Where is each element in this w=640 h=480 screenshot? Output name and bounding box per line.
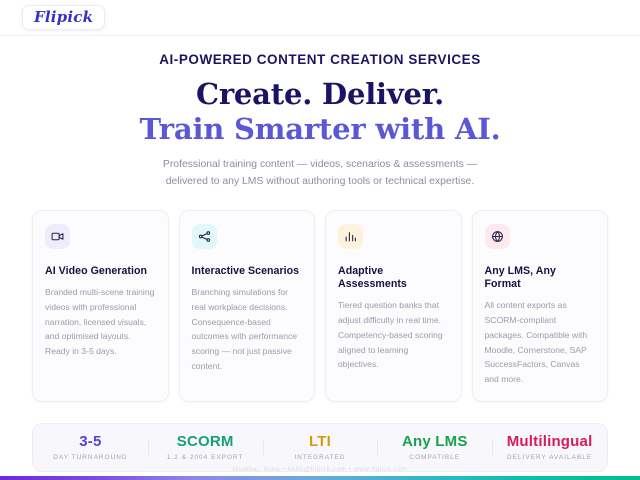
stat-label: DAY TURNAROUND bbox=[37, 454, 144, 462]
stat-scorm: SCORM 1.2 & 2004 EXPORT bbox=[148, 433, 263, 462]
stat-turnaround: 3-5 DAY TURNAROUND bbox=[33, 433, 148, 462]
site-header: Flipick bbox=[0, 0, 640, 36]
feature-card-interactive-scenarios[interactable]: Interactive Scenarios Branching simulati… bbox=[179, 210, 316, 402]
stat-value: LTI bbox=[267, 433, 374, 450]
stat-label: DELIVERY AVAILABLE bbox=[496, 454, 603, 462]
stat-lti: LTI INTEGRATED bbox=[263, 433, 378, 462]
feature-card-body: Branded multi-scene training videos with… bbox=[45, 285, 156, 359]
feature-card-title: Any LMS, Any Format bbox=[485, 265, 596, 291]
stat-any-lms: Any LMS COMPATIBLE bbox=[377, 433, 492, 462]
feature-card-ai-video[interactable]: AI Video Generation Branded multi-scene … bbox=[32, 210, 169, 402]
stat-multilingual: Multilingual DELIVERY AVAILABLE bbox=[492, 433, 607, 462]
stat-value: SCORM bbox=[152, 433, 259, 450]
feature-card-body: Branching simulations for real workplace… bbox=[192, 285, 303, 374]
feature-card-adaptive-assessments[interactable]: Adaptive Assessments Tiered question ban… bbox=[325, 210, 462, 402]
hero-section: AI-POWERED CONTENT CREATION SERVICES Cre… bbox=[0, 36, 640, 191]
branching-flow-icon bbox=[192, 224, 217, 249]
headline-line-one: Create. Deliver. bbox=[20, 77, 620, 112]
hero-eyebrow: AI-POWERED CONTENT CREATION SERVICES bbox=[20, 52, 620, 68]
footer-contact-line: Mumbai, India • hello@flipick.com • www.… bbox=[0, 466, 640, 474]
globe-icon bbox=[485, 224, 510, 249]
logo-wordmark: Flipick bbox=[34, 9, 93, 26]
stat-label: COMPATIBLE bbox=[381, 454, 488, 462]
logo[interactable]: Flipick bbox=[22, 5, 105, 30]
stat-value: 3-5 bbox=[37, 433, 144, 450]
headline-line-two: Train Smarter with AI. bbox=[20, 112, 620, 147]
stat-label: INTEGRATED bbox=[267, 454, 374, 462]
bottom-gradient-bar bbox=[0, 476, 640, 480]
feature-card-body: Tiered question banks that adjust diffic… bbox=[338, 298, 449, 372]
feature-card-any-lms[interactable]: Any LMS, Any Format All content exports … bbox=[472, 210, 609, 402]
feature-card-title: Interactive Scenarios bbox=[192, 265, 303, 278]
stat-value: Any LMS bbox=[381, 433, 488, 450]
subheading-line-one: Professional training content — videos, … bbox=[163, 159, 477, 170]
site-footer: Mumbai, India • hello@flipick.com • www.… bbox=[0, 466, 640, 474]
feature-cards: AI Video Generation Branded multi-scene … bbox=[0, 210, 640, 402]
subheading-line-two: delivered to any LMS without authoring t… bbox=[166, 176, 474, 187]
stats-bar: 3-5 DAY TURNAROUND SCORM 1.2 & 2004 EXPO… bbox=[32, 423, 608, 472]
feature-card-title: AI Video Generation bbox=[45, 265, 156, 278]
feature-card-title: Adaptive Assessments bbox=[338, 265, 449, 291]
stat-label: 1.2 & 2004 EXPORT bbox=[152, 454, 259, 462]
bar-chart-icon bbox=[338, 224, 363, 249]
video-camera-icon bbox=[45, 224, 70, 249]
stat-value: Multilingual bbox=[496, 433, 603, 450]
hero-subheading: Professional training content — videos, … bbox=[150, 157, 490, 191]
page-title: Create. Deliver. Train Smarter with AI. bbox=[20, 77, 620, 146]
feature-card-body: All content exports as SCORM-compliant p… bbox=[485, 298, 596, 387]
